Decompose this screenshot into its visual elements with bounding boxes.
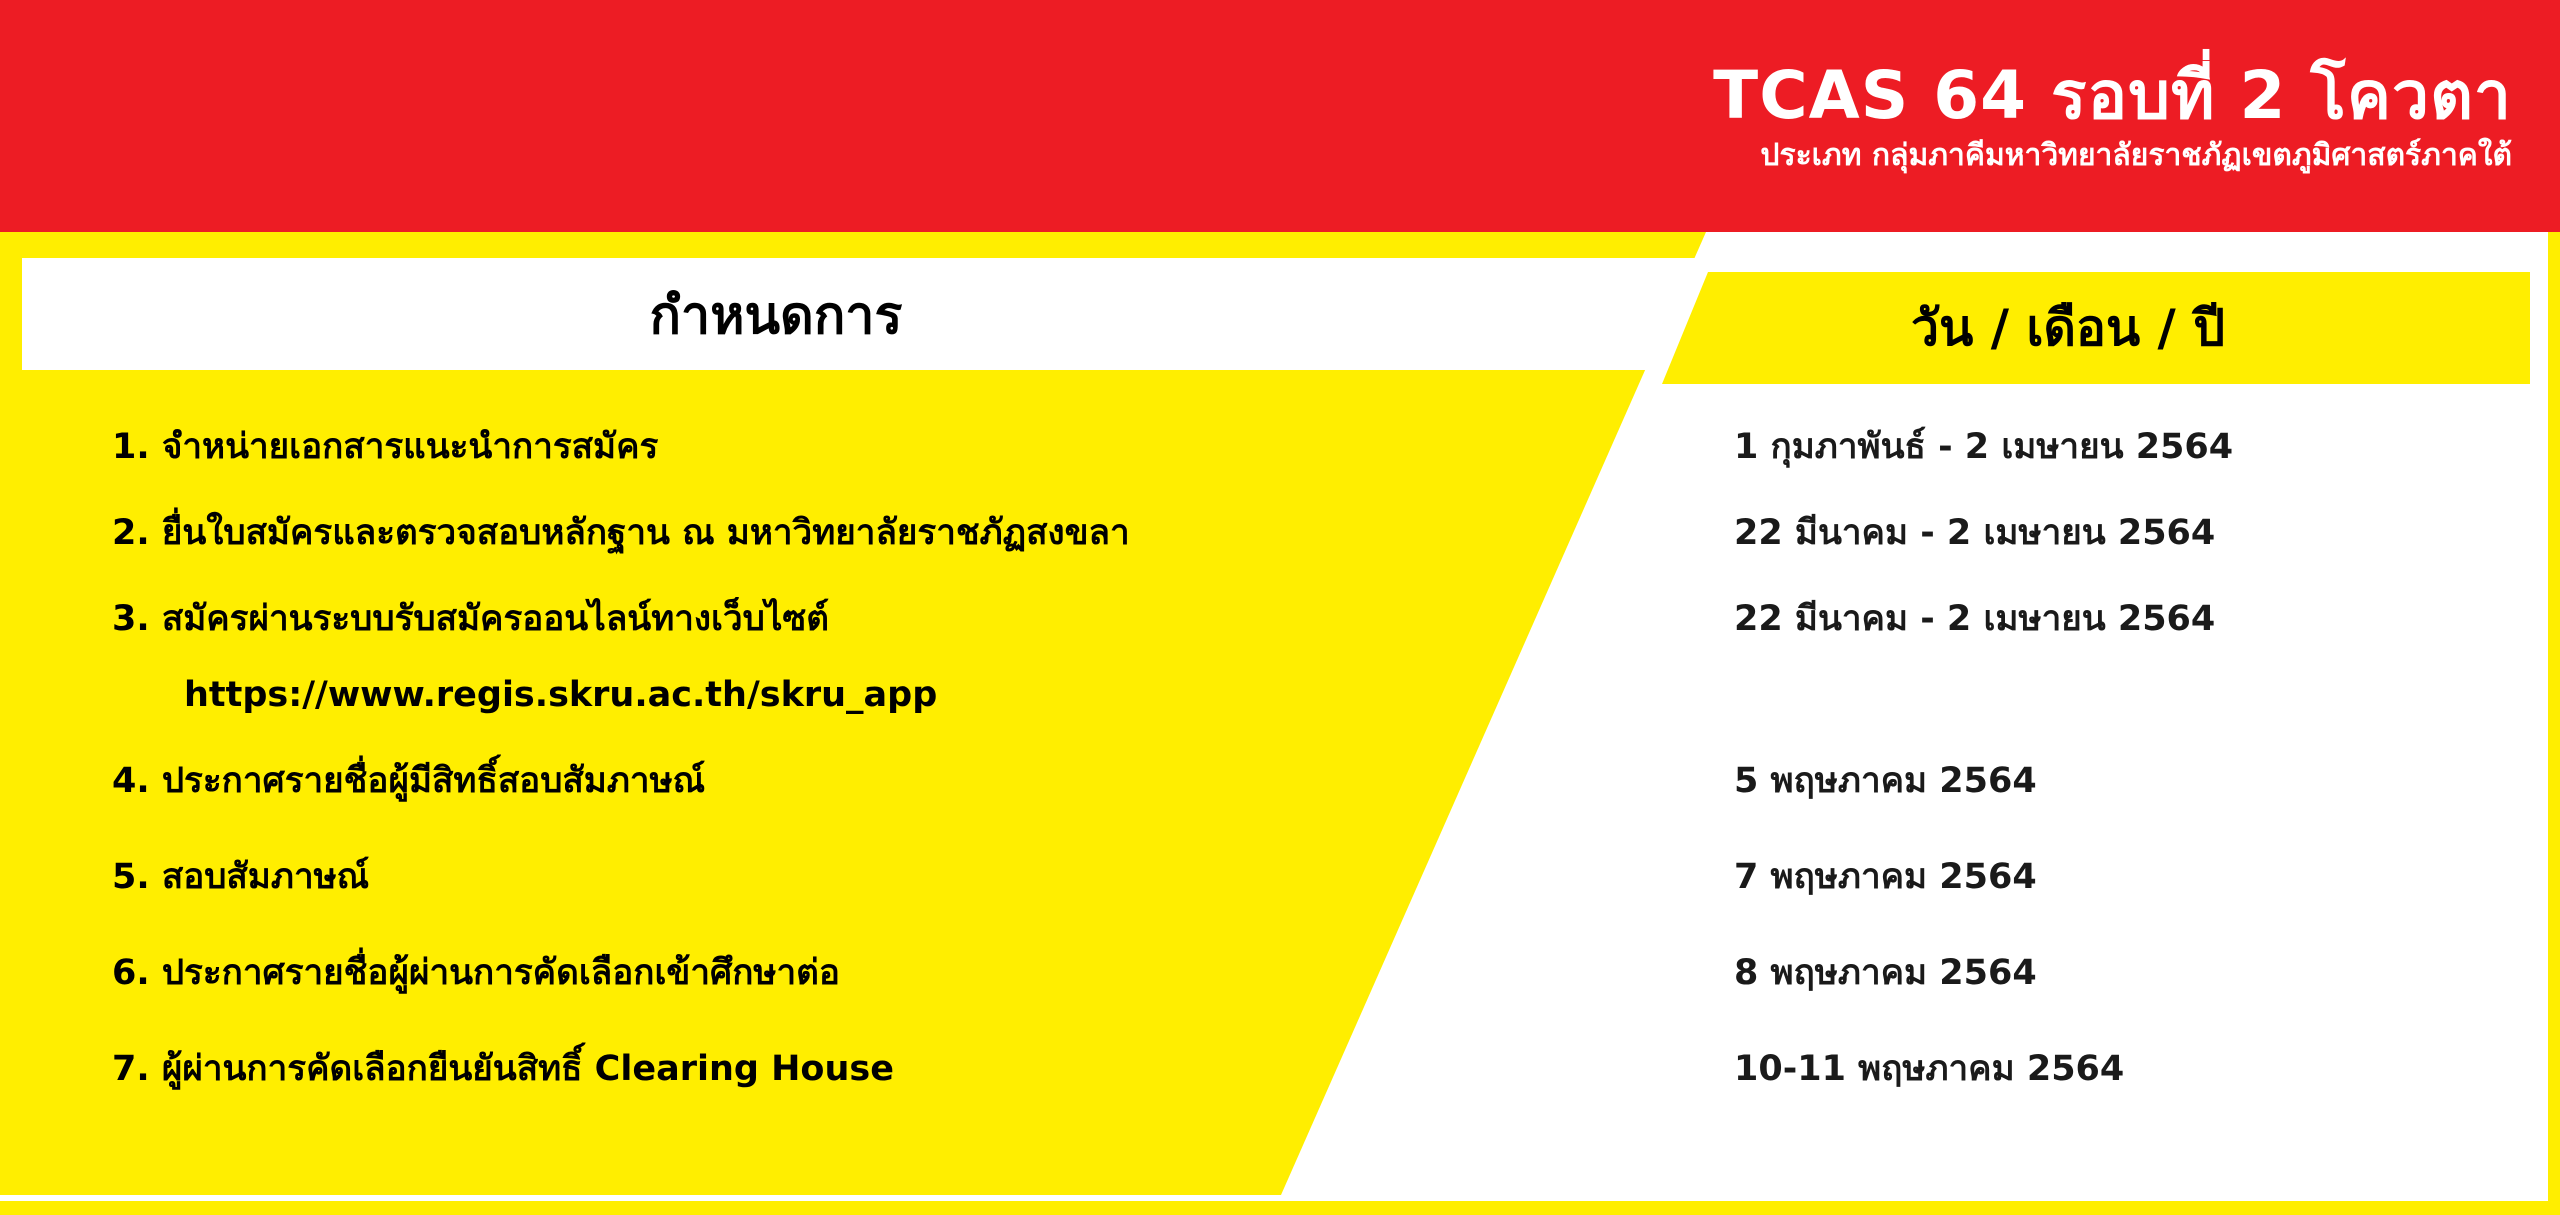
schedule-item-date: 8 พฤษภาคม 2564: [1734, 938, 2037, 1008]
table-row: 2. ยื่นใบสมัครและตรวจสอบหลักฐาน ณ มหาวิท…: [0, 498, 2560, 568]
schedule-item-label: 7. ผู้ผ่านการคัดเลือกยืนยันสิทธิ์ Cleari…: [112, 1034, 894, 1104]
schedule-item-label: 2. ยื่นใบสมัครและตรวจสอบหลักฐาน ณ มหาวิท…: [112, 498, 1130, 568]
schedule-item-label: 4. ประกาศรายชื่อผู้มีสิทธิ์สอบสัมภาษณ์: [112, 746, 705, 816]
poster-header-text-group: TCAS 64 รอบที่ 2 โควตา ประเภท กลุ่มภาคีม…: [1312, 0, 2512, 232]
table-row: 6. ประกาศรายชื่อผู้ผ่านการคัดเลือกเข้าศึ…: [0, 938, 2560, 1008]
application-website-url[interactable]: https://www.regis.skru.ac.th/skru_app: [184, 660, 937, 730]
schedule-item-date: 22 มีนาคม - 2 เมษายน 2564: [1734, 584, 2215, 654]
schedule-item-label: 1. จำหน่ายเอกสารแนะนำการสมัคร: [112, 412, 658, 482]
schedule-column-header-label: กำหนดการ: [650, 273, 903, 356]
date-column-header: วัน / เดือน / ปี: [1662, 272, 2530, 384]
page-title: TCAS 64 รอบที่ 2 โควตา: [1713, 60, 2512, 131]
page-subtitle: ประเภท กลุ่มภาคีมหาวิทยาลัยราชภัฏเขตภูมิ…: [1760, 139, 2512, 172]
table-row-url: https://www.regis.skru.ac.th/skru_app: [0, 660, 2560, 730]
schedule-table-body: 1. จำหน่ายเอกสารแนะนำการสมัคร 1 กุมภาพัน…: [0, 412, 2560, 1172]
schedule-item-label: 5. สอบสัมภาษณ์: [112, 842, 369, 912]
date-column-header-label: วัน / เดือน / ปี: [1911, 289, 2225, 368]
table-row: 7. ผู้ผ่านการคัดเลือกยืนยันสิทธิ์ Cleari…: [0, 1034, 2560, 1104]
schedule-item-date: 1 กุมภาพันธ์ - 2 เมษายน 2564: [1734, 412, 2233, 482]
schedule-item-date: 10-11 พฤษภาคม 2564: [1734, 1034, 2124, 1104]
table-row: 4. ประกาศรายชื่อผู้มีสิทธิ์สอบสัมภาษณ์ 5…: [0, 746, 2560, 816]
schedule-item-date: 22 มีนาคม - 2 เมษายน 2564: [1734, 498, 2215, 568]
schedule-item-label: 6. ประกาศรายชื่อผู้ผ่านการคัดเลือกเข้าศึ…: [112, 938, 840, 1008]
schedule-column-header: กำหนดการ: [22, 258, 1722, 370]
table-row: 5. สอบสัมภาษณ์ 7 พฤษภาคม 2564: [0, 842, 2560, 912]
bottom-accent-strip: [0, 1201, 2560, 1215]
tcas-schedule-poster: TCAS 64 รอบที่ 2 โควตา ประเภท กลุ่มภาคีม…: [0, 0, 2560, 1215]
schedule-item-date: 7 พฤษภาคม 2564: [1734, 842, 2037, 912]
schedule-item-label: 3. สมัครผ่านระบบรับสมัครออนไลน์ทางเว็บไซ…: [112, 584, 829, 654]
table-row: 1. จำหน่ายเอกสารแนะนำการสมัคร 1 กุมภาพัน…: [0, 412, 2560, 482]
poster-header-band: TCAS 64 รอบที่ 2 โควตา ประเภท กลุ่มภาคีม…: [0, 0, 2560, 232]
schedule-item-date: 5 พฤษภาคม 2564: [1734, 746, 2037, 816]
table-row: 3. สมัครผ่านระบบรับสมัครออนไลน์ทางเว็บไซ…: [0, 584, 2560, 654]
